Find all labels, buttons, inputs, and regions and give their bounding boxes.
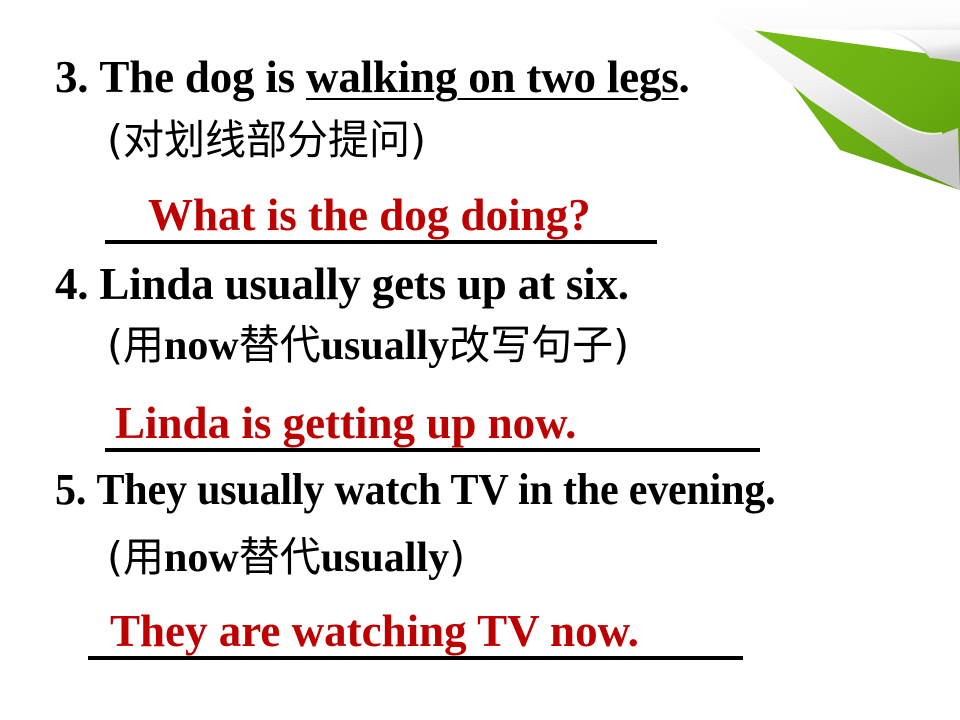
question-4-instruction-close: 改写句子): [449, 321, 629, 369]
question-5-instruction-latin1: now: [164, 535, 239, 581]
question-4-stem: 4. Linda usually gets up at six.: [55, 262, 629, 307]
question-4-instruction-open: (用: [107, 321, 164, 369]
question-5-instruction-close: ): [449, 533, 465, 581]
question-5-instruction-latin2: usually: [321, 535, 449, 581]
question-3-stem-underlined: walking on two legs: [306, 52, 679, 102]
curl-green-fill: [752, 30, 960, 150]
question-4-answer-row: Linda is getting up now.: [105, 400, 760, 452]
curl-paper-top-fold: [886, 30, 960, 62]
question-3-answer-row: What is the dog doing?: [105, 192, 657, 244]
question-3-stem-after: .: [679, 52, 690, 102]
question-4-instruction-latin2: usually: [321, 323, 449, 369]
curl-paper-top: [690, 0, 960, 60]
question-4-answer-rule: [105, 448, 760, 452]
question-4-number: 4.: [55, 259, 88, 309]
question-5-number: 5.: [55, 465, 86, 514]
question-5-answer-rule: [88, 656, 743, 660]
question-4-instruction: (用now替代usually改写句子): [107, 325, 629, 367]
question-5-instruction: (用now替代usually): [107, 537, 465, 579]
curl-highlight-top: [690, 0, 886, 30]
question-5-stem: 5. They usually watch TV in the evening.: [55, 468, 775, 512]
question-4-instruction-latin1: now: [164, 323, 239, 369]
question-4-stem-text: Linda usually gets up at six.: [99, 259, 628, 309]
question-3-answer-rule: [105, 240, 657, 244]
question-3-stem-before: The dog is: [99, 52, 306, 102]
question-5-answer-row: They are watching TV now.: [88, 608, 743, 660]
question-5-instruction-mid: 替代: [239, 533, 321, 581]
question-4-answer-text: Linda is getting up now.: [115, 401, 576, 446]
question-3-number: 3.: [55, 52, 88, 102]
question-3-answer-text: What is the dog doing?: [148, 193, 591, 238]
slide-canvas: 3. The dog is walking on two legs. (对划线部…: [0, 0, 960, 720]
question-4-instruction-mid: 替代: [239, 321, 321, 369]
question-3-instruction: (对划线部分提问): [107, 120, 426, 161]
page-curl-decoration: [690, 0, 960, 190]
question-5-instruction-open: (用: [107, 533, 164, 581]
question-5-stem-text: They usually watch TV in the evening.: [96, 465, 775, 514]
curl-highlight: [690, 0, 942, 134]
question-3-stem: 3. The dog is walking on two legs.: [55, 55, 690, 100]
curl-green-fill-lower: [752, 30, 960, 190]
question-5-answer-text: They are watching TV now.: [110, 609, 639, 654]
curl-paper-diagonal: [690, 0, 960, 190]
